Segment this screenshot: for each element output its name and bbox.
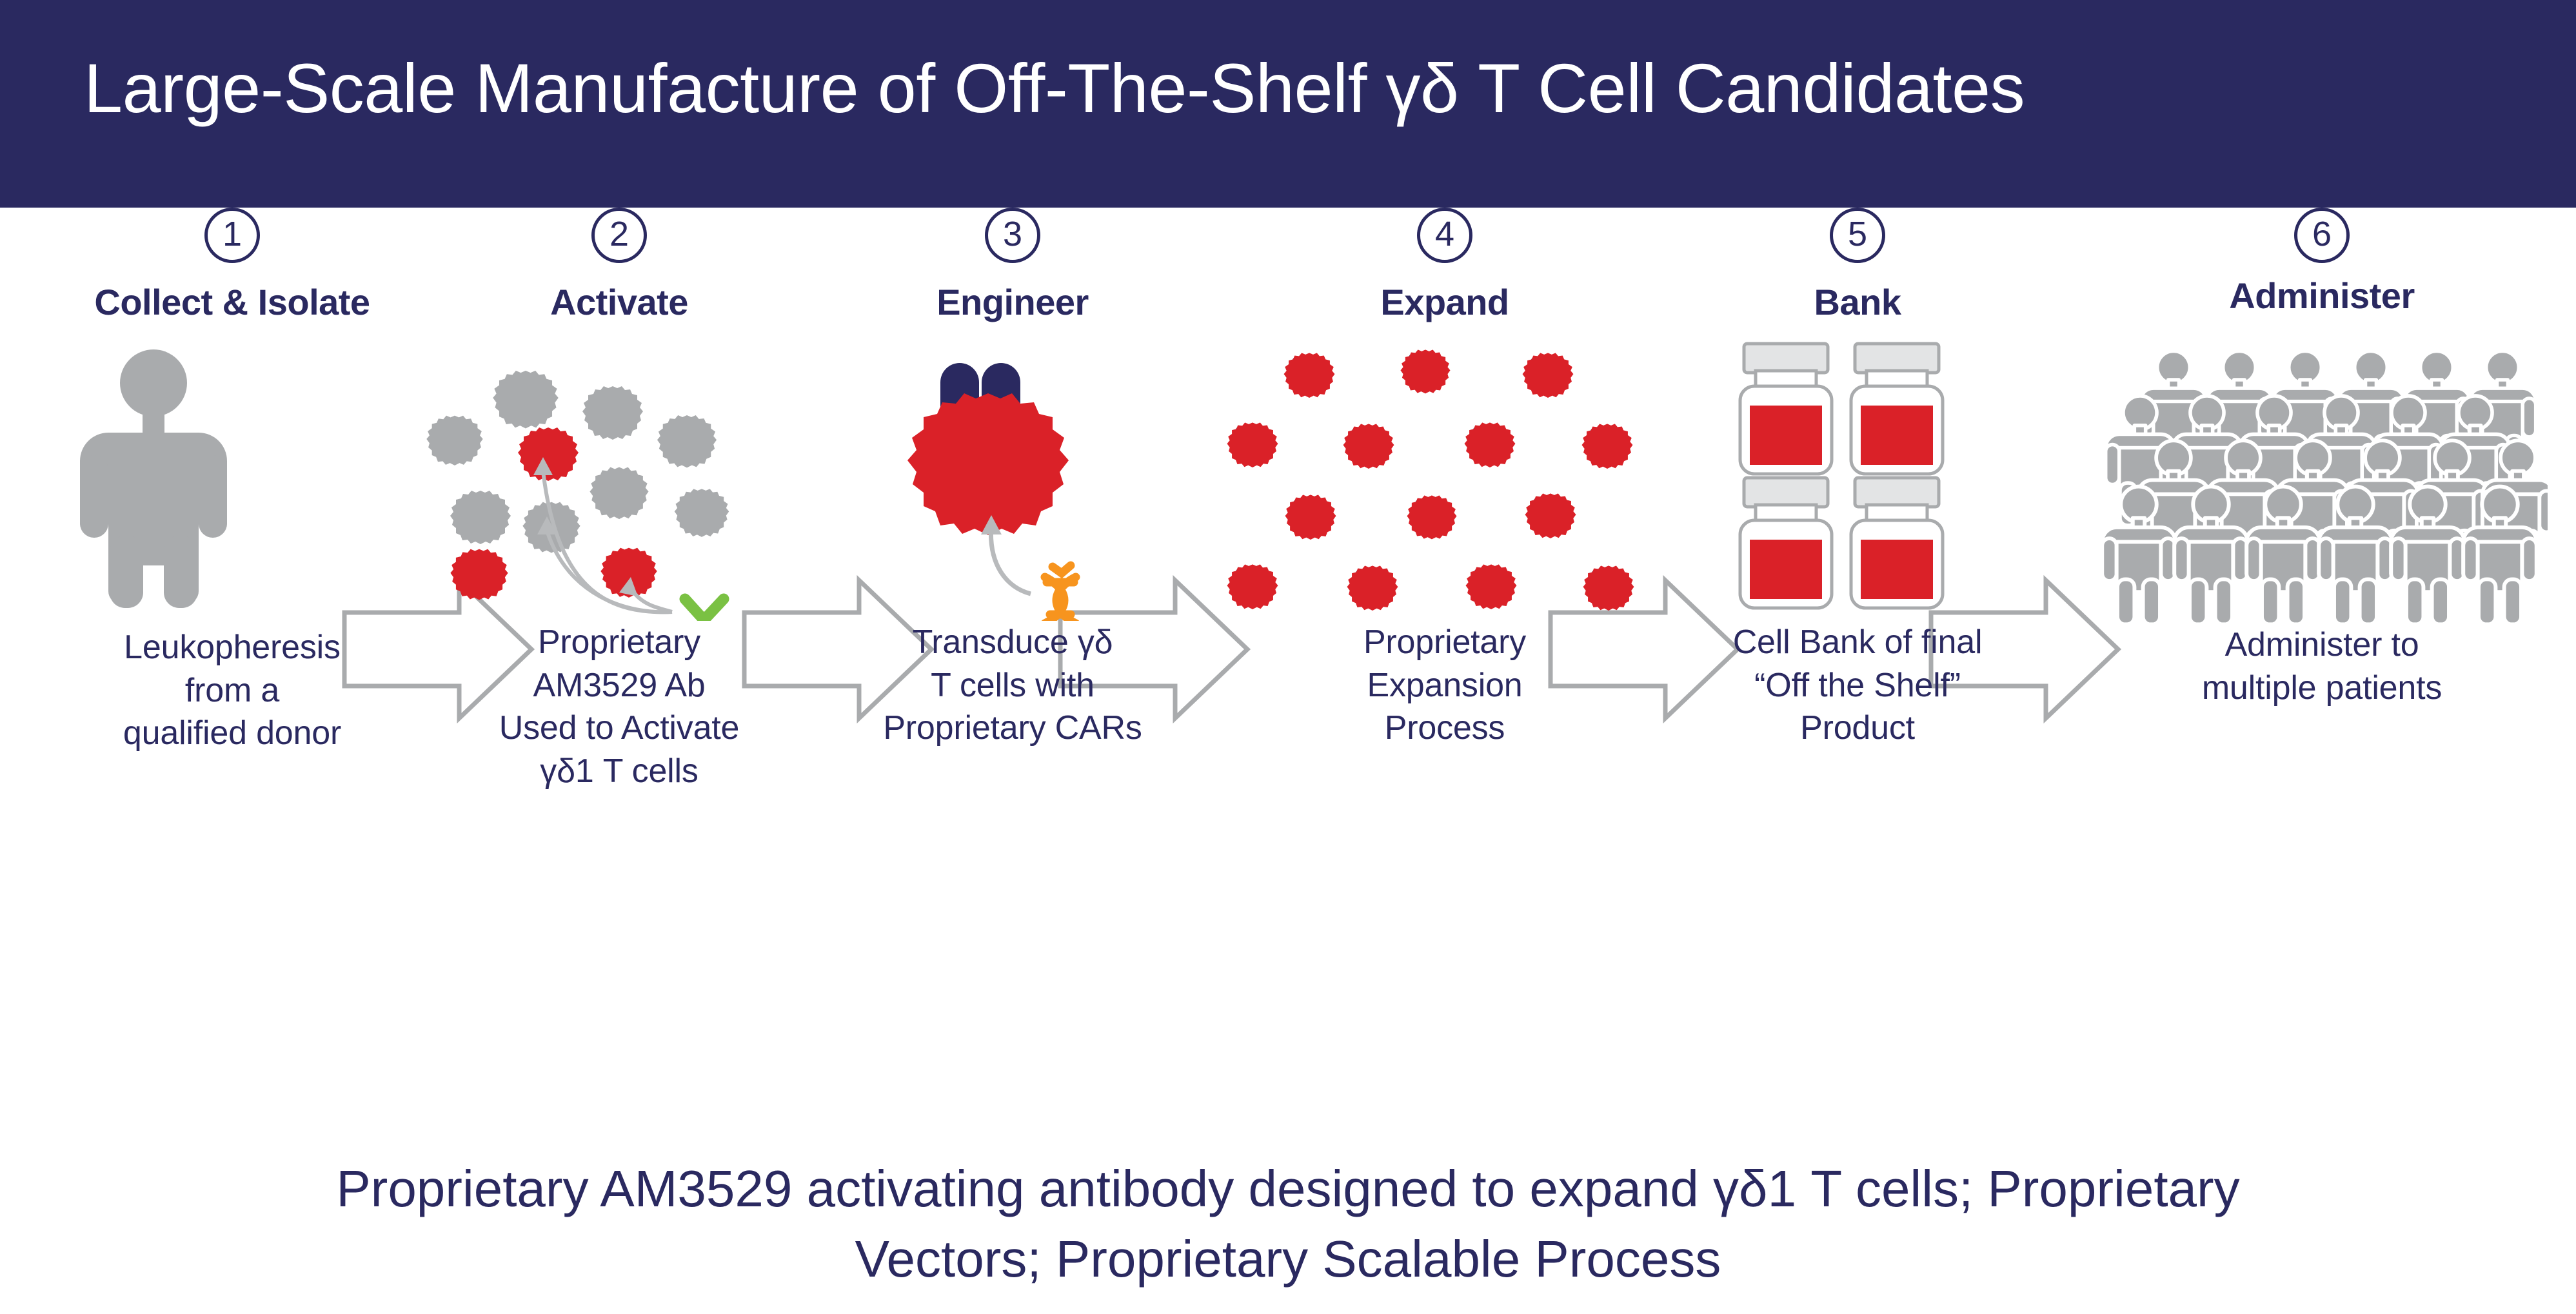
step-number-badge-4: 4 — [1417, 208, 1472, 263]
caption-line: Administer to — [2096, 623, 2548, 667]
step-label-2: Activate — [419, 281, 819, 323]
step-number-badge-3: 3 — [985, 208, 1040, 263]
step-number-2: 2 — [609, 217, 629, 251]
caption-line: Process — [1213, 707, 1677, 750]
step-label-3: Engineer — [813, 281, 1213, 323]
summary-text: Proprietary AM3529 activating antibody d… — [0, 1154, 2576, 1295]
caption-line: Cell Bank of final — [1658, 621, 2057, 664]
step-number-6: 6 — [2312, 217, 2332, 251]
step-6[interactable]: 6 Administer — [2096, 208, 2548, 709]
step-label-6: Administer — [2096, 275, 2548, 317]
step-number-3: 3 — [1003, 217, 1022, 251]
step-label-1: Collect & Isolate — [39, 281, 426, 323]
page-title: Large-Scale Manufacture of Off-The-Shelf… — [84, 50, 2025, 127]
caption-line: Expansion — [1213, 664, 1677, 707]
caption-line: multiple patients — [2096, 667, 2548, 710]
step-caption-5: Cell Bank of final “Off the Shelf” Produ… — [1658, 621, 2057, 750]
step-number-5: 5 — [1848, 217, 1867, 251]
step-label-4: Expand — [1213, 281, 1677, 323]
step-label-5: Bank — [1658, 281, 2057, 323]
step-3[interactable]: 3 Engineer — [813, 208, 1213, 750]
step-number-1: 1 — [223, 217, 242, 251]
step-caption-3: Transduce γδ T cells with Proprietary CA… — [813, 621, 1213, 750]
step-5[interactable]: 5 Bank Cell Bank of final — [1658, 208, 2057, 750]
caption-line: from a — [39, 669, 426, 712]
step-1[interactable]: 1 Collect & Isolate Leukopheresis — [39, 208, 426, 755]
caption-line: T cells with — [813, 664, 1213, 707]
cell-cluster-antibody-icon — [419, 337, 819, 621]
caption-line: Product — [1658, 707, 2057, 750]
caption-line: “Off the Shelf” — [1658, 664, 2057, 707]
step-number-badge-5: 5 — [1830, 208, 1885, 263]
caption-line: Proprietary — [419, 621, 819, 664]
step-4[interactable]: 4 Expand — [1213, 208, 1677, 750]
caption-line: Proprietary — [1213, 621, 1677, 664]
step-caption-4: Proprietary Expansion Process — [1213, 621, 1677, 750]
step-number-badge-2: 2 — [591, 208, 647, 263]
summary-line-2: Vectors; Proprietary Scalable Process — [0, 1224, 2576, 1295]
process-steps-row: 1 Collect & Isolate Leukopheresis — [0, 208, 2576, 1046]
step-caption-6: Administer to multiple patients — [2096, 623, 2548, 709]
caption-line: Used to Activate — [419, 707, 819, 750]
step-number-badge-1: 1 — [204, 208, 260, 263]
caption-line: γδ1 T cells — [419, 750, 819, 793]
caption-line: Proprietary CARs — [813, 707, 1213, 750]
caption-line: AM3529 Ab — [419, 664, 819, 707]
step-number-badge-6: 6 — [2294, 208, 2350, 263]
vial-rack-icon — [1658, 337, 2057, 621]
step-2[interactable]: 2 Activate — [419, 208, 819, 792]
car-t-cell-dna-icon — [813, 337, 1213, 621]
step-number-4: 4 — [1435, 217, 1454, 251]
step-caption-2: Proprietary AM3529 Ab Used to Activate γ… — [419, 621, 819, 792]
caption-line: Transduce γδ — [813, 621, 1213, 664]
person-silhouette-icon — [39, 342, 426, 626]
step-caption-1: Leukopheresis from a qualified donor — [39, 626, 426, 755]
patient-crowd-icon — [2096, 320, 2548, 623]
caption-line: Leukopheresis — [39, 626, 426, 669]
caption-line: qualified donor — [39, 712, 426, 755]
car-cell-grid-icon — [1213, 337, 1677, 621]
summary-line-1: Proprietary AM3529 activating antibody d… — [0, 1154, 2576, 1224]
header-bar: Large-Scale Manufacture of Off-The-Shelf… — [0, 0, 2576, 208]
